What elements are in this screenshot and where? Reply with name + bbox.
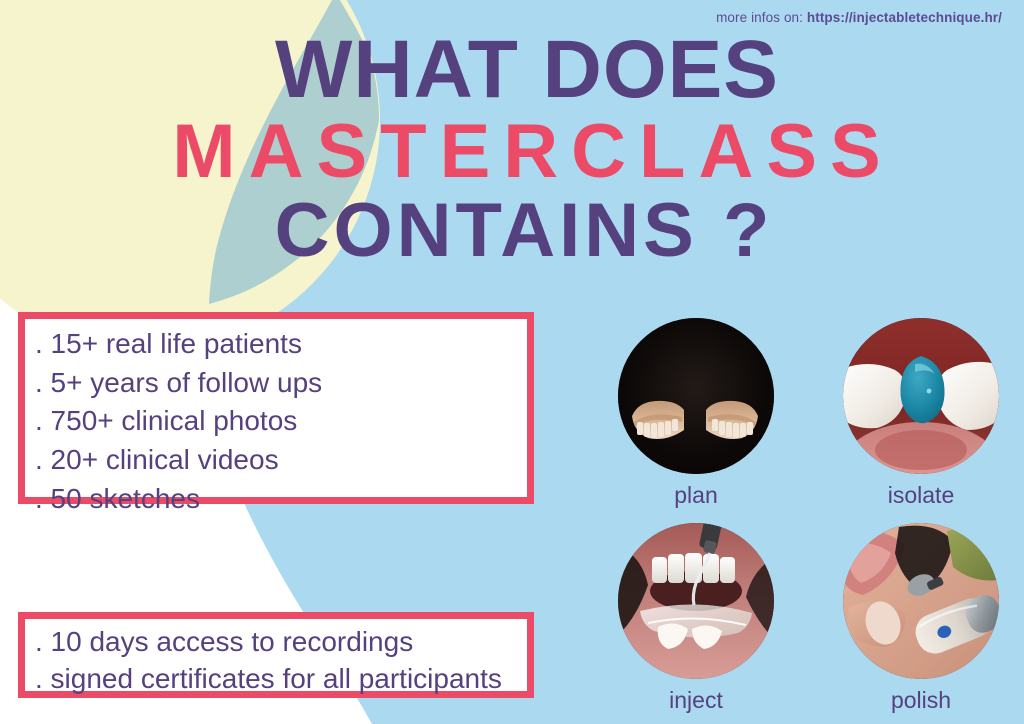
- feature-item: . 50 sketches: [35, 480, 527, 519]
- photo-cell-polish: polish: [841, 523, 1001, 714]
- photo-cell-plan: plan: [616, 318, 776, 509]
- procedure-photo-grid: plan: [604, 318, 1010, 716]
- polishing-handpiece-photo: [843, 523, 999, 679]
- photo-cell-inject: inject: [616, 523, 776, 714]
- isolation-matrix-photo: [843, 318, 999, 474]
- promo-slide: more infos on: https://injectabletechniq…: [0, 0, 1024, 724]
- photo-caption: inject: [616, 687, 776, 714]
- feature-item: . signed certificates for all participan…: [35, 660, 527, 697]
- feature-item: . 10 days access to recordings: [35, 623, 527, 660]
- more-info-line: more infos on: https://injectabletechniq…: [716, 10, 1002, 25]
- photo-cell-isolate: isolate: [841, 318, 1001, 509]
- feature-item: . 20+ clinical videos: [35, 441, 527, 480]
- features-primary-box: . 15+ real life patients . 5+ years of f…: [18, 312, 534, 504]
- website-link[interactable]: https://injectabletechnique.hr/: [807, 10, 1002, 25]
- photo-caption: isolate: [841, 482, 1001, 509]
- feature-item: . 15+ real life patients: [35, 325, 527, 364]
- injection-syringe-photo: [618, 523, 774, 679]
- more-info-label: more infos on:: [716, 10, 807, 25]
- feature-item: . 750+ clinical photos: [35, 402, 527, 441]
- photo-caption: polish: [841, 687, 1001, 714]
- features-secondary-box: . 10 days access to recordings . signed …: [18, 612, 534, 698]
- feature-item: . 5+ years of follow ups: [35, 364, 527, 403]
- photo-caption: plan: [616, 482, 776, 509]
- dental-models-photo: [618, 318, 774, 474]
